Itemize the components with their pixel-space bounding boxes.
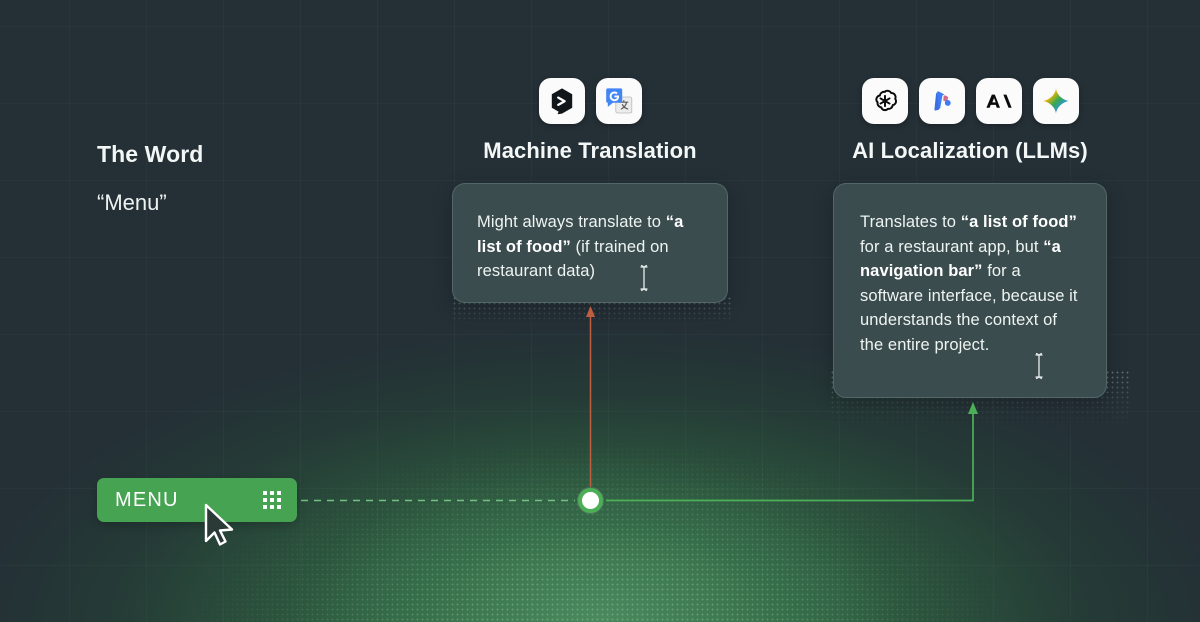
google-translate-icon[interactable] xyxy=(596,78,642,124)
mouse-arrow-cursor xyxy=(203,503,239,547)
arrowhead-machine-translation xyxy=(586,306,595,317)
word-block-value: “Menu” xyxy=(97,187,417,219)
diagram-canvas: The Word “Menu” Machine Transla xyxy=(0,0,1200,622)
arrowhead-ai-localization xyxy=(968,402,978,414)
word-block-title: The Word xyxy=(97,137,417,171)
ai-localization-icon-row xyxy=(820,78,1120,124)
text-ibeam-cursor-mt xyxy=(639,264,649,290)
ai-localization-card: Translates to “a list of food” for a res… xyxy=(833,183,1107,398)
word-block: The Word “Menu” xyxy=(97,137,417,219)
flow-node[interactable] xyxy=(578,488,603,513)
menu-button-label: MENU xyxy=(115,489,179,512)
column-header-machine-translation: Machine Translation xyxy=(440,78,740,164)
machine-translation-icon-row xyxy=(440,78,740,124)
ai-text-part-2: “a list of food” xyxy=(961,213,1077,231)
column-title-machine-translation: Machine Translation xyxy=(440,138,740,164)
column-header-ai-localization: AI Localization (LLMs) xyxy=(820,78,1120,164)
column-title-ai-localization: AI Localization (LLMs) xyxy=(820,138,1120,164)
ai-localization-card-text: Translates to “a list of food” for a res… xyxy=(834,184,1106,379)
menu-button[interactable]: MENU xyxy=(97,478,297,522)
mistral-icon[interactable] xyxy=(919,78,965,124)
gemini-icon[interactable] xyxy=(1033,78,1079,124)
edge-to-ai-localization xyxy=(606,412,973,501)
openai-icon[interactable] xyxy=(862,78,908,124)
mt-text-part-1: Might always translate to xyxy=(477,213,666,231)
ai-text-part-3: for a restaurant app, but xyxy=(860,238,1043,256)
anthropic-icon[interactable] xyxy=(976,78,1022,124)
machine-translation-card: Might always translate to “a list of foo… xyxy=(452,183,728,303)
machine-translation-card-text: Might always translate to “a list of foo… xyxy=(453,184,727,308)
grid-3x3-icon[interactable] xyxy=(263,491,281,509)
ai-text-part-1: Translates to xyxy=(860,213,961,231)
text-ibeam-cursor-ai xyxy=(1034,352,1044,378)
deepl-icon[interactable] xyxy=(539,78,585,124)
